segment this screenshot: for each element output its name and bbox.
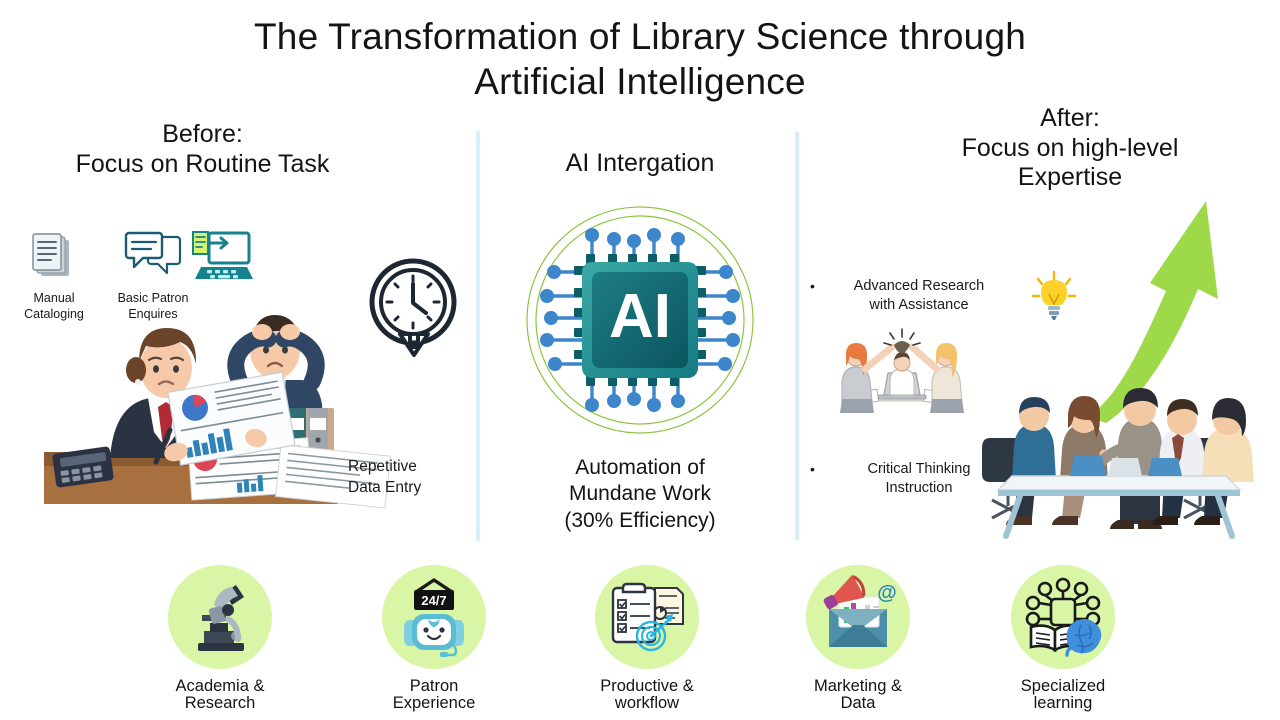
column-divider-right (795, 131, 799, 541)
benefit-academia-research[interactable]: Academia & Research (135, 565, 305, 711)
benefit-marketing-data[interactable]: @ Marketing & Data (773, 565, 943, 711)
stressed-office-workers-illustration (40, 262, 380, 507)
ai-chip-text: AI (609, 282, 671, 351)
benefit-label-line-2: Research (135, 695, 305, 712)
after-heading-line-2: Focus on high-level (880, 134, 1260, 164)
after-heading-line-1: After: (880, 104, 1260, 134)
benefit-patron-experience[interactable]: 24/7 Patron Experience (349, 565, 519, 711)
automation-caption-line-3: (30% Efficiency) (510, 508, 770, 534)
note-line-2: Data Entry (348, 478, 468, 499)
automation-caption: Automation of Mundane Work (30% Efficien… (510, 455, 770, 534)
benefit-productive-workflow[interactable]: Productive & workflow (562, 565, 732, 711)
column-divider-left (476, 131, 480, 541)
before-column-heading: Before: Focus on Routine Task (20, 120, 385, 179)
page-title-line-1: The Transformation of Library Science th… (0, 14, 1280, 59)
benefit-label: Patron Experience (349, 678, 519, 711)
brain-book-ai-icon (1011, 565, 1115, 669)
benefit-label: Academia & Research (135, 678, 305, 711)
email-marketing-icon: @ (806, 565, 910, 669)
after-heading-line-3: Expertise (880, 163, 1260, 193)
benefit-label-line-1: Specialized (978, 678, 1148, 695)
bullet-dot-icon: • (810, 277, 815, 315)
benefit-label-line-2: Experience (349, 695, 519, 712)
integration-column-heading: AI Intergation (490, 149, 790, 179)
after-column-heading: After: Focus on high-level Expertise (880, 104, 1260, 193)
benefit-label-line-2: workflow (562, 695, 732, 712)
benefit-label-line-1: Productive & (562, 678, 732, 695)
automation-caption-line-1: Automation of (510, 455, 770, 481)
automation-caption-line-2: Mundane Work (510, 481, 770, 507)
benefit-label-line-2: learning (978, 695, 1148, 712)
bullet-text: Advanced Research with Assistance (823, 277, 1015, 315)
before-heading-line-2: Focus on Routine Task (20, 150, 385, 180)
checklist-target-icon (595, 565, 699, 669)
team-high-five-illustration (832, 325, 972, 420)
bullet-line-2: Instruction (886, 480, 953, 496)
at-symbol-icon: @ (877, 582, 897, 604)
chatbot-247-icon: 24/7 (382, 565, 486, 669)
ai-chip-icon: AI (524, 204, 756, 436)
before-heading-line-1: Before: (20, 120, 385, 150)
infographic-canvas: The Transformation of Library Science th… (0, 0, 1280, 720)
benefit-specialized-learning[interactable]: Specialized learning (978, 565, 1148, 711)
lightbulb-icon (1030, 270, 1078, 322)
bullet-line-1: Critical Thinking (868, 461, 971, 477)
page-title: The Transformation of Library Science th… (0, 14, 1280, 104)
benefit-label: Marketing & Data (773, 678, 943, 711)
benefit-label: Productive & workflow (562, 678, 732, 711)
bullet-line-1: Advanced Research (854, 278, 985, 294)
business-meeting-illustration (978, 350, 1268, 540)
page-title-line-2: Artificial Intelligence (0, 59, 1280, 104)
bullet-dot-icon: • (810, 460, 815, 498)
benefit-label-line-1: Academia & (135, 678, 305, 695)
clock-down-arrow-icon (366, 256, 460, 366)
benefit-label-line-2: Data (773, 695, 943, 712)
benefit-label-line-1: Marketing & (773, 678, 943, 695)
bullet-advanced-research: • Advanced Research with Assistance (810, 277, 1015, 315)
repetitive-data-entry-label: Repetitive Data Entry (348, 457, 468, 499)
chatbot-badge-text: 24/7 (421, 593, 446, 608)
note-line-1: Repetitive (348, 457, 468, 478)
bullet-line-2: with Assistance (869, 297, 968, 313)
microscope-icon (168, 565, 272, 669)
benefit-label-line-1: Patron (349, 678, 519, 695)
benefit-label: Specialized learning (978, 678, 1148, 711)
